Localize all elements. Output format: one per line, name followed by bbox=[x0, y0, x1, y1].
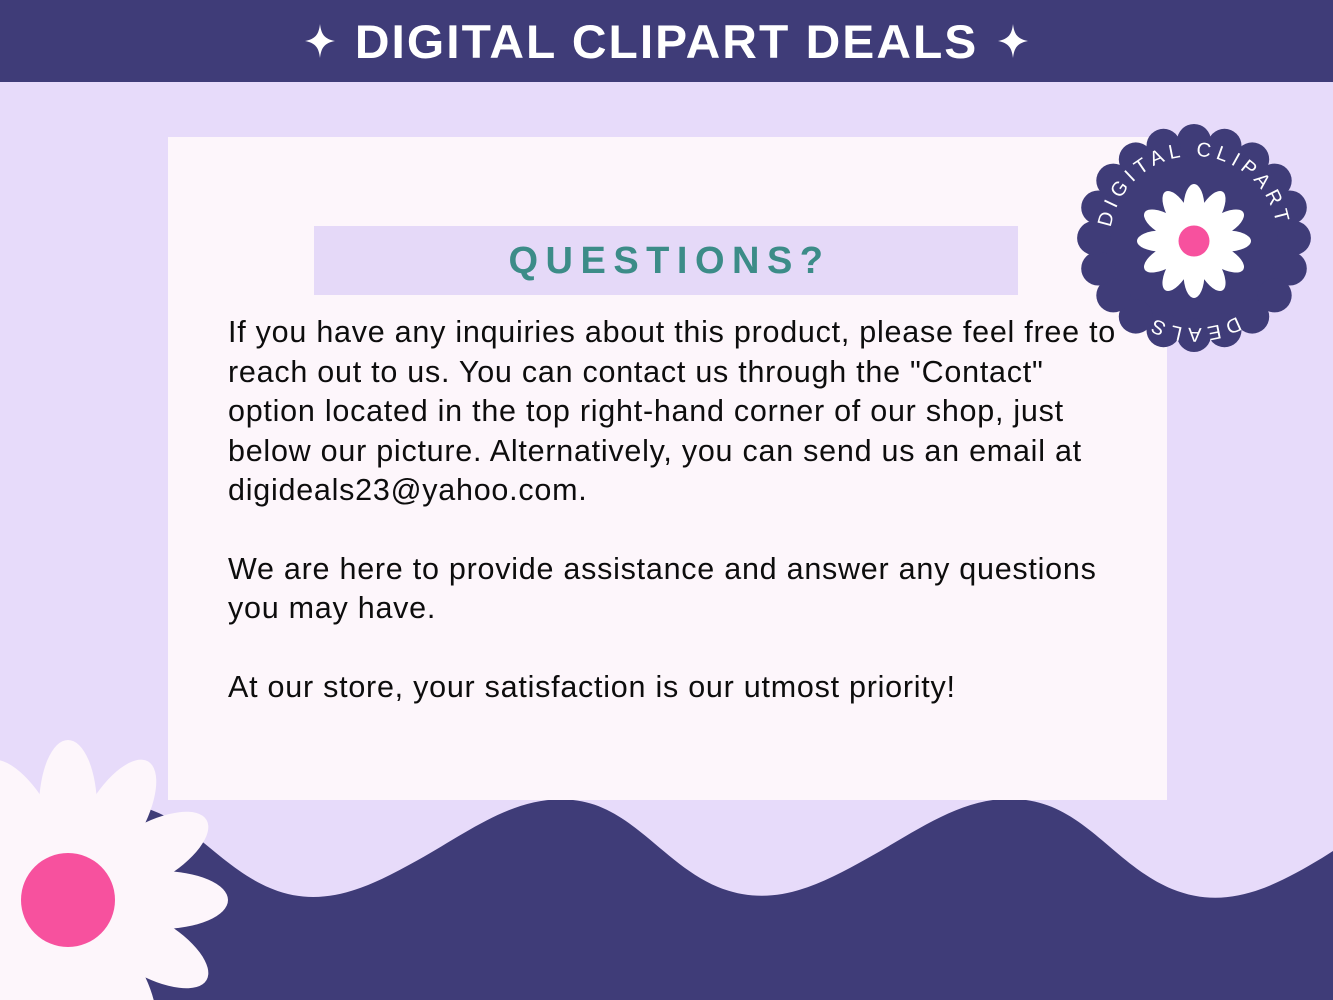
body-copy: If you have any inquiries about this pro… bbox=[228, 313, 1138, 707]
sparkle-icon bbox=[998, 24, 1028, 58]
header-title: DIGITAL CLIPART DEALS bbox=[355, 18, 978, 65]
paragraph-3: At our store, your satisfaction is our u… bbox=[228, 668, 1138, 708]
corner-daisy-decoration bbox=[0, 740, 228, 1000]
page-title: QUESTIONS? bbox=[501, 242, 830, 280]
paragraph-2: We are here to provide assistance and an… bbox=[228, 550, 1138, 629]
header-banner: DIGITAL CLIPART DEALS bbox=[0, 0, 1333, 82]
paragraph-1: If you have any inquiries about this pro… bbox=[228, 313, 1138, 511]
slide-canvas: DIGITAL CLIPART DEALS QUESTIONS? If you … bbox=[0, 0, 1333, 1000]
brand-seal-badge: DIGITAL CLIPART DEALS bbox=[1069, 118, 1319, 363]
content-card: QUESTIONS? If you have any inquiries abo… bbox=[168, 137, 1167, 800]
section-title-band: QUESTIONS? bbox=[314, 226, 1018, 295]
daisy-flower-icon bbox=[0, 740, 228, 1000]
sparkle-icon bbox=[305, 24, 335, 58]
